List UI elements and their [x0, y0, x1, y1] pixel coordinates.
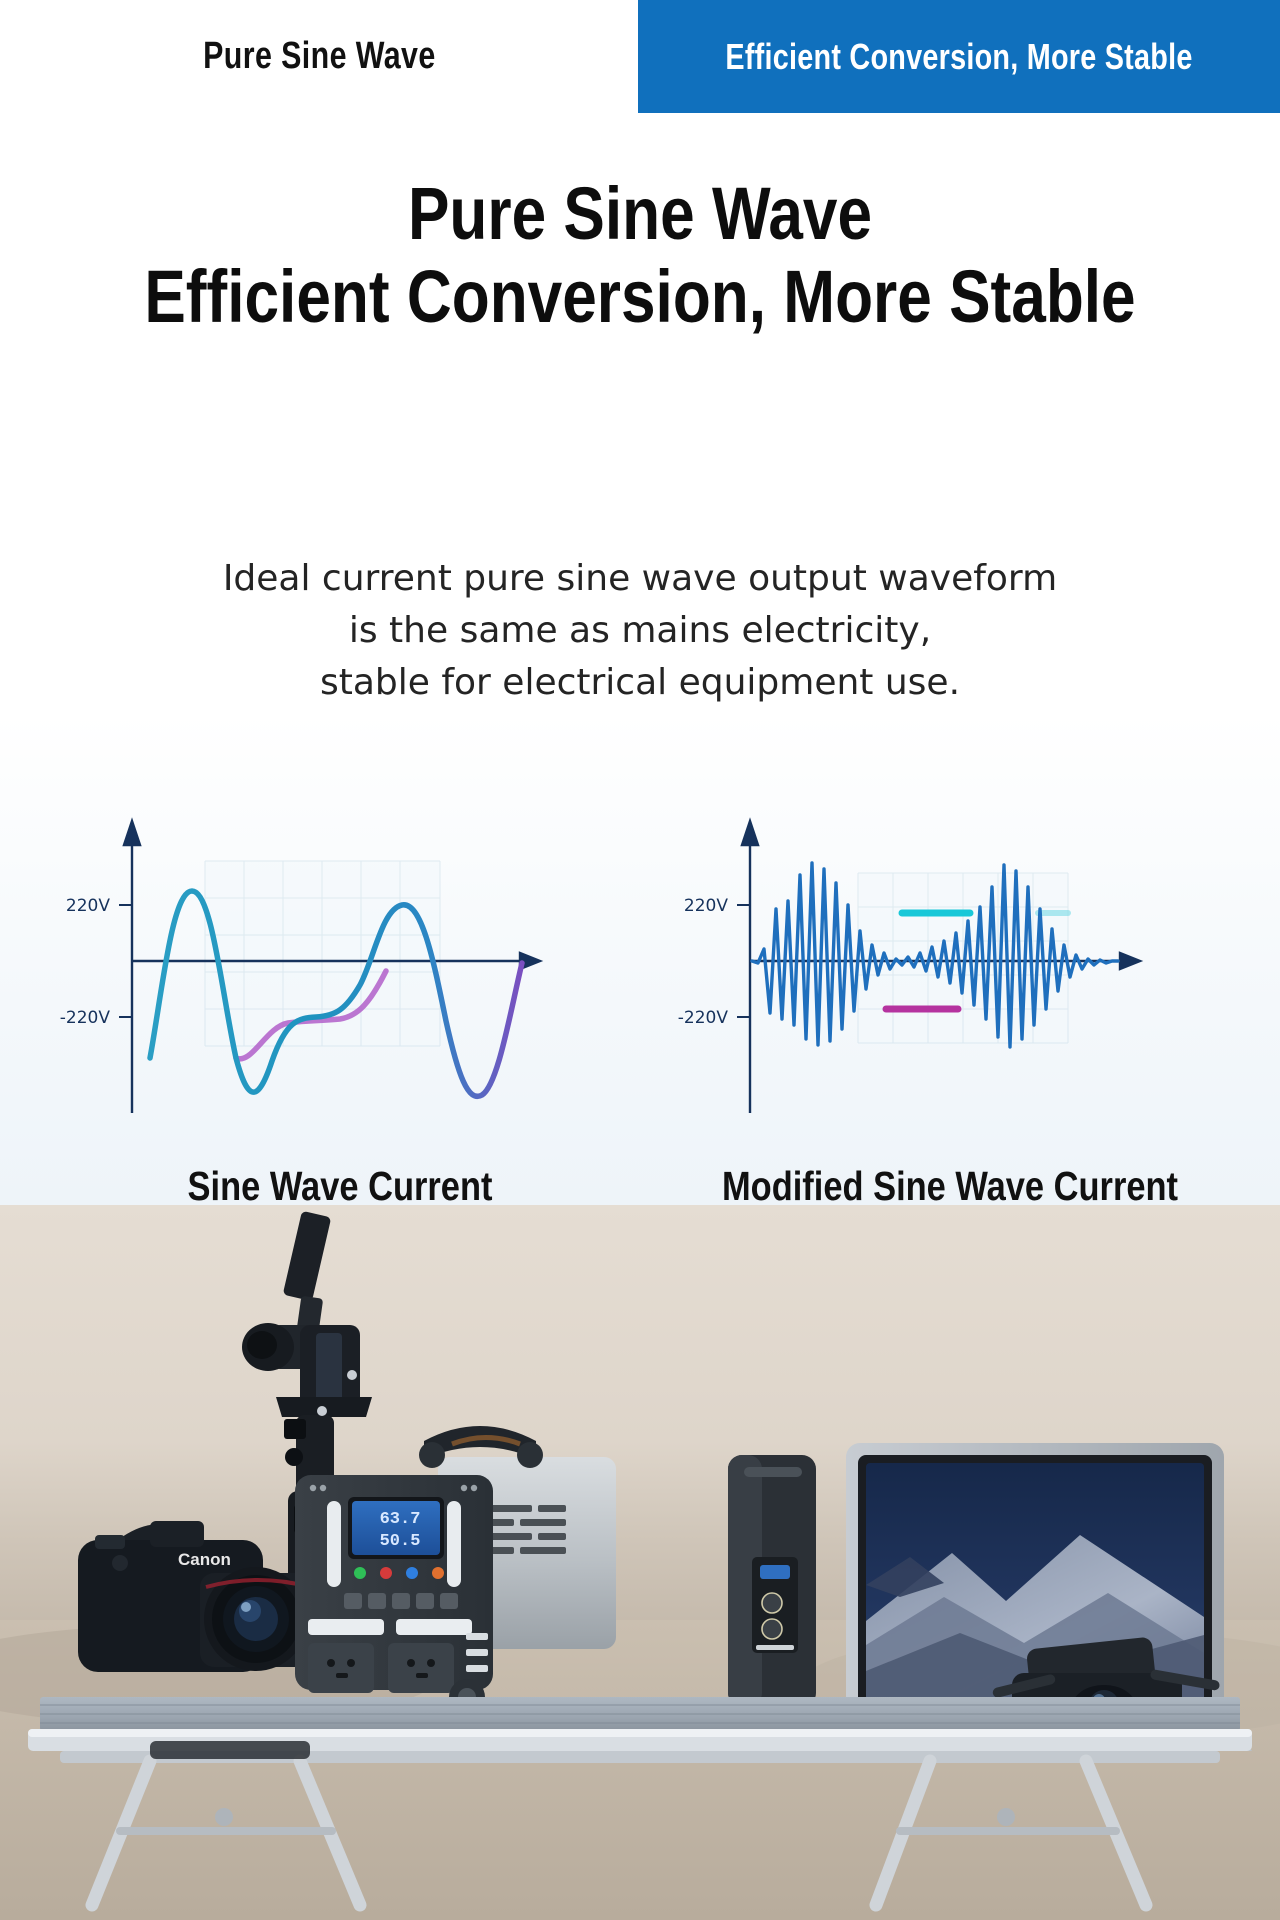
power-station-display-line-1: 63.7: [380, 1510, 421, 1529]
lead-line-3: stable for electrical equipment use.: [0, 657, 1280, 709]
led-orange: [432, 1567, 444, 1579]
chart-modified-sine-wave-svg: 220V -220V: [640, 813, 1240, 1143]
product-photo: Canon: [0, 1205, 1280, 1920]
y-label-220v-bottom: -220V: [60, 1008, 111, 1028]
page-title: Pure Sine Wave Efficient Conversion, Mor…: [0, 173, 1280, 339]
button-row[interactable]: [344, 1593, 458, 1609]
title-line-2: Efficient Conversion, More Stable: [102, 256, 1177, 339]
chart-sine-wave-svg: 220V -220V: [40, 813, 640, 1143]
product-photo-svg: Canon: [0, 1205, 1280, 1920]
tab-efficient-conversion-label: Efficient Conversion, More Stable: [725, 36, 1192, 78]
lead-paragraph: Ideal current pure sine wave output wave…: [0, 553, 1280, 708]
led-blue: [406, 1567, 418, 1579]
waveform-charts: 220V -220V: [0, 813, 1280, 1143]
hero-section: Pure Sine Wave Efficient Conversion, Mor…: [0, 113, 1280, 1205]
chart-modified-sine-wave: 220V -220V: [640, 813, 1240, 1143]
tab-efficient-conversion[interactable]: Efficient Conversion, More Stable: [638, 0, 1280, 113]
caption-modified-sine-wave: Modified Sine Wave Current: [690, 1163, 1211, 1210]
y-label-220v-top: 220V: [66, 896, 110, 916]
y-label-220v-top: 220V: [684, 896, 728, 916]
y-label-220v-bottom: -220V: [678, 1008, 729, 1028]
led-green: [354, 1567, 366, 1579]
product-infographic-page: Pure Sine Wave Efficient Conversion, Mor…: [0, 0, 1280, 1920]
lead-line-1: Ideal current pure sine wave output wave…: [0, 553, 1280, 605]
led-red: [380, 1567, 392, 1579]
caption-sine-wave: Sine Wave Current: [105, 1163, 575, 1210]
camera-brand-text: Canon: [178, 1550, 231, 1569]
tab-bar: Pure Sine Wave Efficient Conversion, Mor…: [0, 0, 1280, 113]
thermos-speaker: [728, 1455, 816, 1707]
usb-ports: [466, 1633, 488, 1672]
power-station-display-line-2: 50.5: [380, 1532, 421, 1551]
tab-pure-sine-wave-label: Pure Sine Wave: [203, 35, 436, 78]
tab-pure-sine-wave[interactable]: Pure Sine Wave: [0, 0, 638, 113]
lead-line-2: is the same as mains electricity,: [0, 605, 1280, 657]
title-line-1: Pure Sine Wave: [102, 173, 1177, 256]
chart-sine-wave: 220V -220V: [40, 813, 640, 1143]
